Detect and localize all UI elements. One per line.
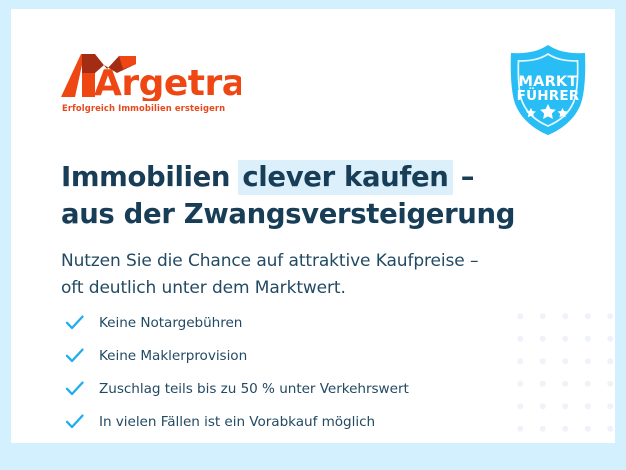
logo-tagline: Erfolgreich Immobilien ersteigern	[62, 103, 225, 113]
subheadline: Nutzen Sie die Chance auf attraktive Kau…	[61, 248, 531, 302]
list-item-label: Keine Maklerprovision	[99, 348, 247, 364]
benefits-list: Keine Notargebühren Keine Maklerprovisio…	[64, 306, 504, 438]
check-icon	[64, 411, 85, 432]
list-item-label: Keine Notargebühren	[99, 315, 242, 331]
list-item: Zuschlag teils bis zu 50 % unter Verkehr…	[64, 372, 504, 405]
svg-text:Argetra: Argetra	[94, 63, 241, 101]
check-icon	[64, 378, 85, 399]
argetra-logo[interactable]: Argetra Erfolgreich Immobilien ersteiger…	[61, 51, 241, 123]
list-item: Keine Maklerprovision	[64, 339, 504, 372]
badge-line2-text: FÜHRER	[517, 86, 580, 104]
headline-part2: –	[452, 161, 475, 193]
check-icon	[64, 345, 85, 366]
banner-card: Argetra Erfolgreich Immobilien ersteiger…	[11, 9, 615, 443]
subheadline-line2: oft deutlich unter dem Marktwert.	[61, 278, 346, 298]
headline-highlight: clever kaufen	[238, 160, 452, 195]
promo-banner: Argetra Erfolgreich Immobilien ersteiger…	[0, 0, 626, 470]
markt-fuehrer-badge: MARKT FÜHRER	[500, 42, 596, 138]
headline-part1: Immobilien	[61, 161, 239, 193]
page-title: Immobilien clever kaufen – aus der Zwang…	[61, 159, 531, 233]
list-item-label: Zuschlag teils bis zu 50 % unter Verkehr…	[99, 381, 409, 397]
list-item: Keine Notargebühren	[64, 306, 504, 339]
headline-line2: aus der Zwangsversteigerung	[61, 198, 515, 230]
subheadline-line1: Nutzen Sie die Chance auf attraktive Kau…	[61, 251, 478, 271]
check-icon	[64, 312, 85, 333]
list-item: In vielen Fällen ist ein Vorabkauf mögli…	[64, 405, 504, 438]
list-item-label: In vielen Fällen ist ein Vorabkauf mögli…	[99, 414, 375, 430]
dot-grid-decoration	[505, 299, 615, 443]
